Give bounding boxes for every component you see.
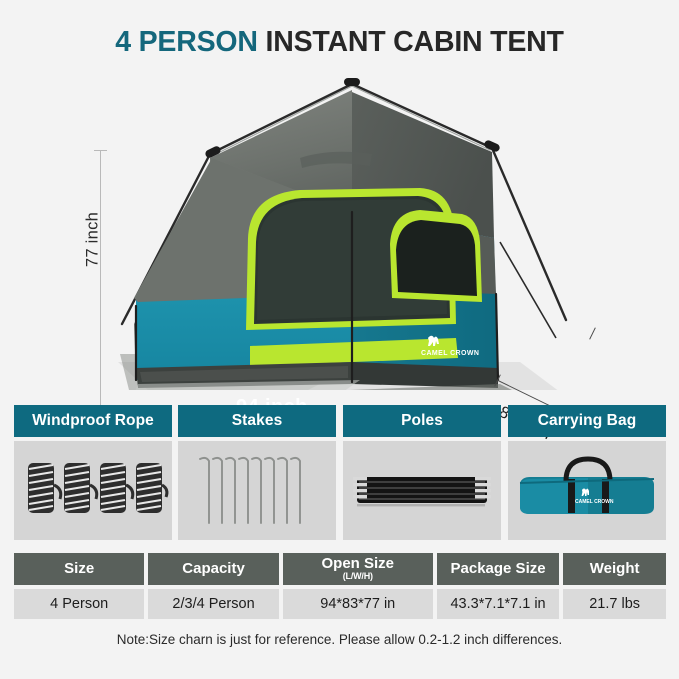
tent-hero: CAMEL CROWN: [0, 62, 679, 390]
svg-text:CAMEL CROWN: CAMEL CROWN: [575, 499, 614, 505]
accessory-column-carrying-bag: Carrying Bag CAMEL CROWN: [508, 405, 666, 540]
spec-header-size-label: Size: [64, 561, 94, 577]
rope-coil-icon: [14, 441, 172, 540]
title-rest: INSTANT CABIN TENT: [258, 26, 564, 58]
spec-header-package-size-label: Package Size: [451, 561, 546, 577]
spec-table: Size Capacity Open Size (L/W/H) Package …: [14, 553, 666, 619]
spec-table-value-row: 4 Person 2/3/4 Person 94*83*77 in 43.3*7…: [14, 589, 666, 619]
carrying-bag-icon: CAMEL CROWN: [508, 441, 666, 540]
accessory-image-poles: [343, 441, 501, 540]
accessory-image-carrying-bag: CAMEL CROWN: [508, 441, 666, 540]
spec-value-capacity: 2/3/4 Person: [148, 589, 278, 619]
height-dimension-label: 77 inch: [84, 195, 103, 285]
page-title: 4 PERSON INSTANT CABIN TENT: [0, 26, 679, 59]
height-dimension-cap-top: [94, 150, 107, 151]
title-accent: 4 PERSON: [115, 26, 258, 58]
spec-table-header-row: Size Capacity Open Size (L/W/H) Package …: [14, 553, 666, 585]
accessories-table: Windproof Rope: [14, 405, 666, 540]
spec-value-open-size: 94*83*77 in: [283, 589, 433, 619]
disclaimer-note: Note:Size charn is just for reference. P…: [0, 632, 679, 647]
spec-header-open-size: Open Size (L/W/H): [283, 553, 433, 585]
product-infographic: 4 PERSON INSTANT CABIN TENT: [0, 0, 679, 679]
spec-header-package-size: Package Size: [437, 553, 559, 585]
tent-pole-bundle-icon: [343, 441, 501, 540]
spec-header-capacity: Capacity: [148, 553, 278, 585]
svg-text:CAMEL CROWN: CAMEL CROWN: [421, 350, 479, 357]
accessory-image-windproof-rope: [14, 441, 172, 540]
height-dimension-line: [100, 150, 101, 422]
accessory-column-poles: Poles: [343, 405, 501, 540]
accessory-column-stakes: Stakes: [178, 405, 336, 540]
accessory-header-windproof-rope: Windproof Rope: [14, 405, 172, 437]
spec-value-package-size: 43.3*7.1*7.1 in: [437, 589, 559, 619]
spec-header-weight-label: Weight: [590, 561, 640, 577]
accessory-image-stakes: [178, 441, 336, 540]
spec-header-weight: Weight: [563, 553, 666, 585]
accessory-header-poles: Poles: [343, 405, 501, 437]
spec-header-open-size-label: Open Size: [322, 556, 395, 572]
accessory-header-stakes: Stakes: [178, 405, 336, 437]
spec-value-size: 4 Person: [14, 589, 144, 619]
accessory-header-carrying-bag: Carrying Bag: [508, 405, 666, 437]
spec-value-weight: 21.7 lbs: [563, 589, 666, 619]
spec-header-capacity-label: Capacity: [182, 561, 245, 577]
spec-header-size: Size: [14, 553, 144, 585]
accessory-column-windproof-rope: Windproof Rope: [14, 405, 172, 540]
spec-header-open-size-sub: (L/W/H): [343, 572, 373, 581]
tent-stake-icon: [178, 441, 336, 540]
